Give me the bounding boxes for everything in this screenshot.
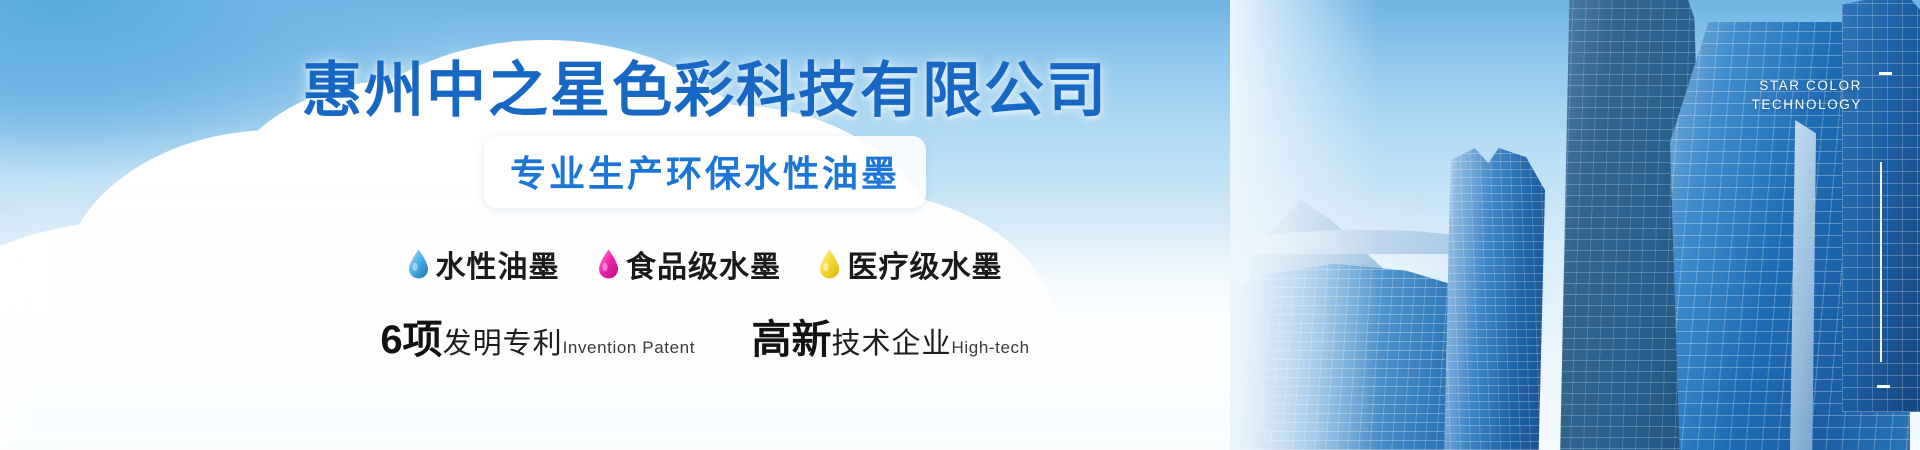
badge-english-text: Invention Patent <box>563 338 695 357</box>
badge-invention-patent: 6项发明专利 Invention Patent <box>380 320 695 360</box>
badge-subtext: 技术企业 <box>832 328 952 360</box>
badge-high-tech: 高新技术企业 High-tech <box>752 320 1030 360</box>
feature-item-waterborne-ink: 水性油墨 <box>408 242 560 286</box>
water-drop-icon <box>598 249 619 279</box>
feature-label: 食品级水墨 <box>626 242 781 286</box>
feature-item-medical-grade-ink: 医疗级水墨 <box>819 242 1002 286</box>
water-drop-icon <box>408 249 429 279</box>
badge-subtext: 发明专利 <box>443 328 563 360</box>
feature-label: 医疗级水墨 <box>847 242 1002 286</box>
accent-dash-bottom <box>1877 385 1890 388</box>
side-brand-line-2: TECHNOLOGY <box>1751 95 1862 114</box>
company-hero-banner: Star Color STAR COLOR TECHNOLOGY 惠州中之星色彩… <box>0 0 1920 450</box>
water-drop-icon <box>819 249 840 279</box>
company-name-headline: 惠州中之星色彩科技有限公司 <box>0 56 1410 125</box>
feature-item-food-grade-ink: 食品级水墨 <box>598 242 781 286</box>
subtitle-pill: 专业生产环保水性油墨 <box>484 136 926 208</box>
side-brand-line-1: STAR COLOR <box>1751 76 1862 95</box>
feature-label: 水性油墨 <box>436 242 560 286</box>
accent-line <box>1880 162 1882 362</box>
badge-english-text: High-tech <box>952 338 1030 357</box>
vertical-accent-line <box>1880 0 1882 450</box>
badge-highlight: 6项 <box>380 318 442 362</box>
banner-text-content: 惠州中之星色彩科技有限公司 专业生产环保水性油墨 水性油墨 <box>0 0 1410 450</box>
product-feature-list: 水性油墨 食品级水墨 <box>0 242 1410 286</box>
building-center-round-tower <box>1440 148 1545 450</box>
credential-badge-row: 6项发明专利 Invention Patent 高新技术企业 High-tech <box>0 320 1410 360</box>
side-brand-label: STAR COLOR TECHNOLOGY <box>1751 76 1862 114</box>
accent-dash-top <box>1879 72 1892 75</box>
badge-highlight: 高新 <box>752 318 832 362</box>
subtitle-pill-row: 专业生产环保水性油墨 <box>0 136 1410 208</box>
